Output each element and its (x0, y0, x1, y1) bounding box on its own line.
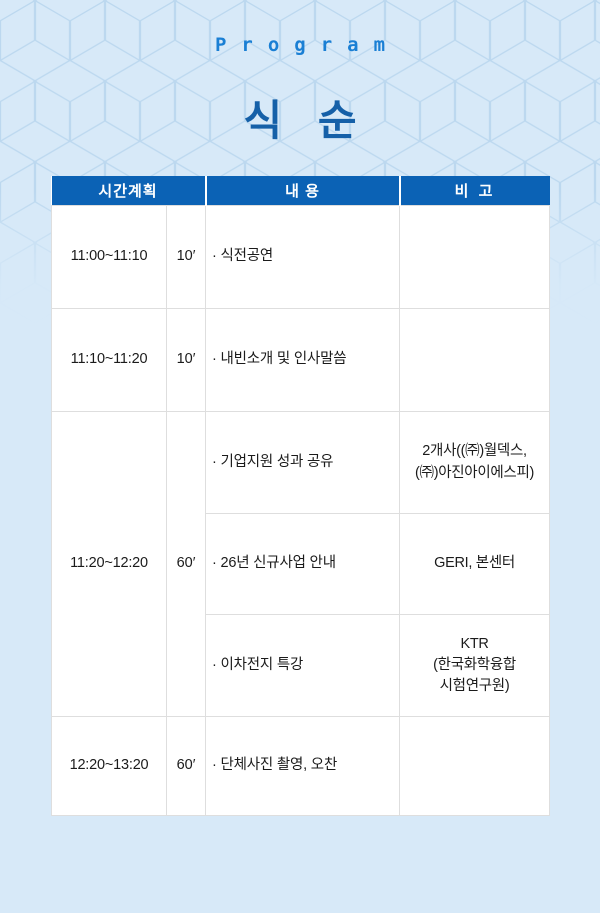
schedule-table: 시간계획 내 용 비 고 11:00~11:10 10′ · 식전공연 11:1… (51, 176, 550, 816)
cell-content: · 내빈소개 및 인사말씀 (206, 309, 400, 412)
cell-remark: KTR (한국화학융합 시험연구원) (400, 615, 550, 717)
cell-duration: 10′ (167, 206, 206, 309)
program-page: Program 식 순 시간계획 내 용 비 고 11:00~11:10 10′… (0, 0, 600, 913)
table-row: 11:10~11:20 10′ · 내빈소개 및 인사말씀 (52, 309, 550, 412)
page-title: 식 순 (0, 96, 600, 146)
cell-remark (400, 717, 550, 816)
table-header: 시간계획 내 용 비 고 (52, 176, 550, 206)
cell-content: · 단체사진 촬영, 오찬 (206, 717, 400, 816)
cell-duration: 10′ (167, 309, 206, 412)
schedule-table-container: 시간계획 내 용 비 고 11:00~11:10 10′ · 식전공연 11:1… (51, 176, 549, 816)
cell-remark (400, 206, 550, 309)
column-header-content: 내 용 (206, 176, 400, 206)
cell-time-merged: 11:20~12:20 (52, 412, 167, 717)
cell-remark: 2개사((㈜)월덱스, (㈜)아진아이에스피) (400, 412, 550, 514)
cell-time: 11:00~11:10 (52, 206, 167, 309)
table-body: 11:00~11:10 10′ · 식전공연 11:10~11:20 10′ ·… (52, 206, 550, 816)
table-header-row: 시간계획 내 용 비 고 (52, 176, 550, 206)
cell-content: · 식전공연 (206, 206, 400, 309)
cell-content: · 기업지원 성과 공유 (206, 412, 400, 514)
cell-duration: 60′ (167, 717, 206, 816)
cell-remark (400, 309, 550, 412)
table-row: 12:20~13:20 60′ · 단체사진 촬영, 오찬 (52, 717, 550, 816)
remark-line: 2개사((㈜)월덱스, (406, 441, 543, 462)
column-header-time: 시간계획 (52, 176, 206, 206)
cell-content: · 26년 신규사업 안내 (206, 514, 400, 615)
cell-time: 11:10~11:20 (52, 309, 167, 412)
table-row: 11:20~12:20 60′ · 기업지원 성과 공유 2개사((㈜)월덱스,… (52, 412, 550, 514)
table-row: 11:00~11:10 10′ · 식전공연 (52, 206, 550, 309)
remark-line: (한국화학융합 (406, 655, 543, 676)
cell-content: · 이차전지 특강 (206, 615, 400, 717)
remark-line: (㈜)아진아이에스피) (406, 463, 543, 484)
remark-line: 시험연구원) (406, 676, 543, 697)
cell-duration-merged: 60′ (167, 412, 206, 717)
remark-line: KTR (406, 634, 543, 655)
cell-remark: GERI, 본센터 (400, 514, 550, 615)
column-header-remark: 비 고 (400, 176, 550, 206)
remark-line: GERI, 본센터 (406, 553, 543, 574)
cell-time: 12:20~13:20 (52, 717, 167, 816)
program-eyebrow-label: Program (0, 33, 600, 57)
